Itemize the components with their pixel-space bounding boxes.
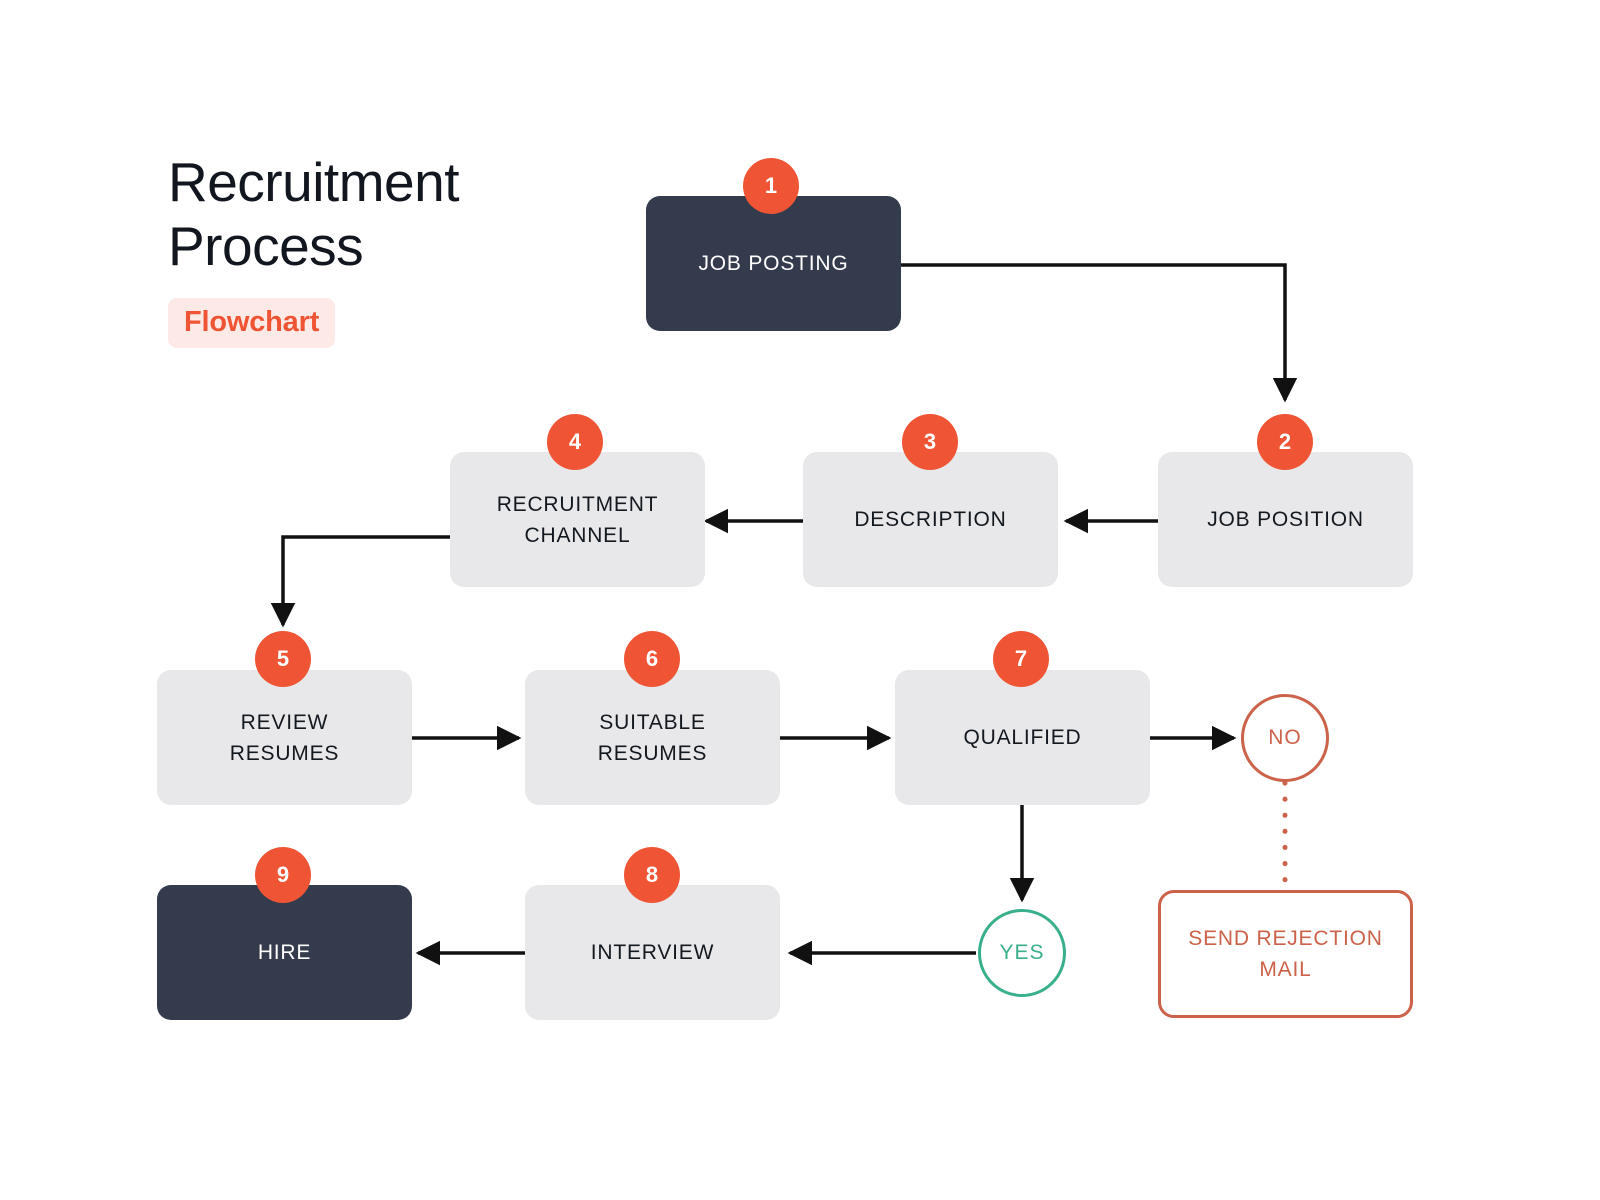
flowchart-badge: Flowchart: [168, 298, 335, 348]
node-badge-8: 8: [624, 847, 680, 903]
node-suitable-resumes[interactable]: SUITABLE RESUMES: [525, 670, 780, 805]
node-qualified-label: QUALIFIED: [963, 722, 1081, 753]
page-title-block: Recruitment Process Flowchart: [168, 150, 588, 348]
node-badge-5-number: 5: [277, 646, 289, 672]
node-badge-3-number: 3: [924, 429, 936, 455]
node-interview-label: INTERVIEW: [591, 937, 715, 968]
decision-yes-label: YES: [999, 941, 1044, 965]
node-recruitment-channel-label-line-2: CHANNEL: [525, 524, 631, 547]
node-badge-8-number: 8: [646, 862, 658, 888]
node-job-posting[interactable]: JOB POSTING: [646, 196, 901, 331]
node-badge-5: 5: [255, 631, 311, 687]
node-recruitment-channel-label-line-1: RECRUITMENT: [497, 493, 659, 516]
node-review-resumes-label-line-1: REVIEW: [241, 711, 329, 734]
node-send-rejection-mail-label-line-2: MAIL: [1259, 958, 1311, 981]
node-badge-4: 4: [547, 414, 603, 470]
node-recruitment-channel[interactable]: RECRUITMENT CHANNEL: [450, 452, 705, 587]
node-badge-6: 6: [624, 631, 680, 687]
node-badge-1: 1: [743, 158, 799, 214]
node-badge-9: 9: [255, 847, 311, 903]
node-badge-6-number: 6: [646, 646, 658, 672]
node-qualified[interactable]: QUALIFIED: [895, 670, 1150, 805]
node-badge-1-number: 1: [765, 173, 777, 199]
node-suitable-resumes-label-line-1: SUITABLE: [599, 711, 705, 734]
node-hire[interactable]: HIRE: [157, 885, 412, 1020]
node-hire-label: HIRE: [258, 937, 311, 968]
decision-yes[interactable]: YES: [978, 909, 1066, 997]
node-badge-7: 7: [993, 631, 1049, 687]
node-badge-2-number: 2: [1279, 429, 1291, 455]
page-title-line-1: Recruitment: [168, 150, 588, 214]
node-interview[interactable]: INTERVIEW: [525, 885, 780, 1020]
node-badge-9-number: 9: [277, 862, 289, 888]
node-description[interactable]: DESCRIPTION: [803, 452, 1058, 587]
node-job-posting-label: JOB POSTING: [699, 248, 849, 279]
node-job-position-label: JOB POSITION: [1207, 504, 1364, 535]
decision-no[interactable]: NO: [1241, 694, 1329, 782]
node-suitable-resumes-label-line-2: RESUMES: [598, 742, 707, 765]
edge-job-posting-to-job-position: [901, 265, 1285, 400]
node-badge-3: 3: [902, 414, 958, 470]
node-send-rejection-mail-label-line-1: SEND REJECTION: [1188, 927, 1382, 950]
node-badge-4-number: 4: [569, 429, 581, 455]
node-badge-7-number: 7: [1015, 646, 1027, 672]
edge-recruitment-channel-to-review-resumes: [283, 537, 450, 625]
node-description-label: DESCRIPTION: [854, 504, 1006, 535]
decision-no-label: NO: [1268, 726, 1302, 750]
node-badge-2: 2: [1257, 414, 1313, 470]
node-send-rejection-mail[interactable]: SEND REJECTION MAIL: [1158, 890, 1413, 1018]
node-review-resumes-label-line-2: RESUMES: [230, 742, 339, 765]
node-review-resumes[interactable]: REVIEW RESUMES: [157, 670, 412, 805]
node-job-position[interactable]: JOB POSITION: [1158, 452, 1413, 587]
page-title-line-2: Process: [168, 214, 588, 278]
